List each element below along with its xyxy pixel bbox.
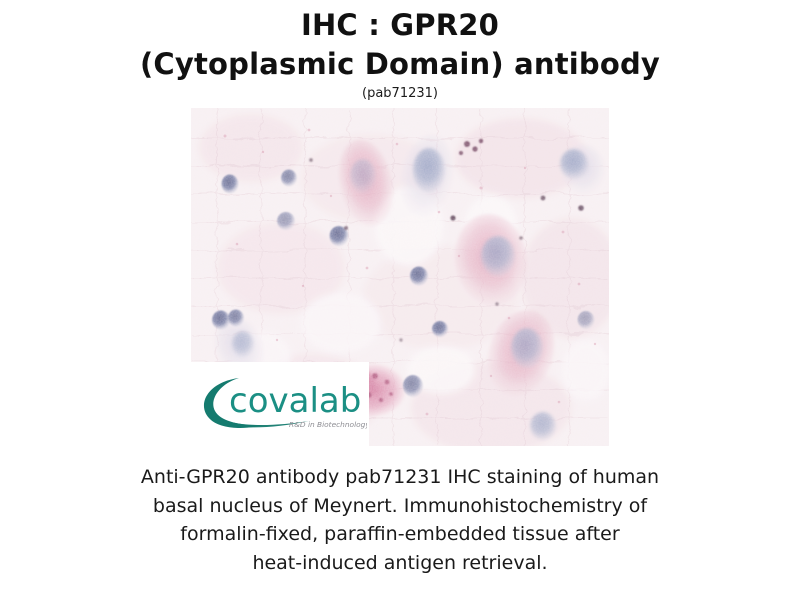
micrograph-figure: covalab R&D in Biotechnology (191, 108, 609, 446)
caption-line: Anti-GPR20 antibody pab71231 IHC stainin… (100, 463, 700, 492)
product-image-card: IHC : GPR20 (Cytoplasmic Domain) antibod… (0, 0, 800, 600)
page-subtitle: (Cytoplasmic Domain) antibody (0, 44, 800, 84)
covalab-logo: covalab R&D in Biotechnology (197, 372, 367, 436)
caption-line: formalin-fixed, paraffin-embedded tissue… (100, 520, 700, 549)
figure-caption: Anti-GPR20 antibody pab71231 IHC stainin… (100, 463, 700, 577)
page-title: IHC : GPR20 (0, 6, 800, 44)
title-block: IHC : GPR20 (Cytoplasmic Domain) antibod… (0, 0, 800, 102)
caption-line: basal nucleus of Meynert. Immunohistoche… (100, 492, 700, 521)
caption-line: heat-induced antigen retrieval. (100, 549, 700, 578)
covalab-logo-watermark: covalab R&D in Biotechnology (191, 362, 369, 446)
logo-wordmark: covalab (229, 381, 361, 421)
catalog-number: (pab71231) (0, 85, 800, 102)
logo-tagline: R&D in Biotechnology (289, 420, 367, 429)
